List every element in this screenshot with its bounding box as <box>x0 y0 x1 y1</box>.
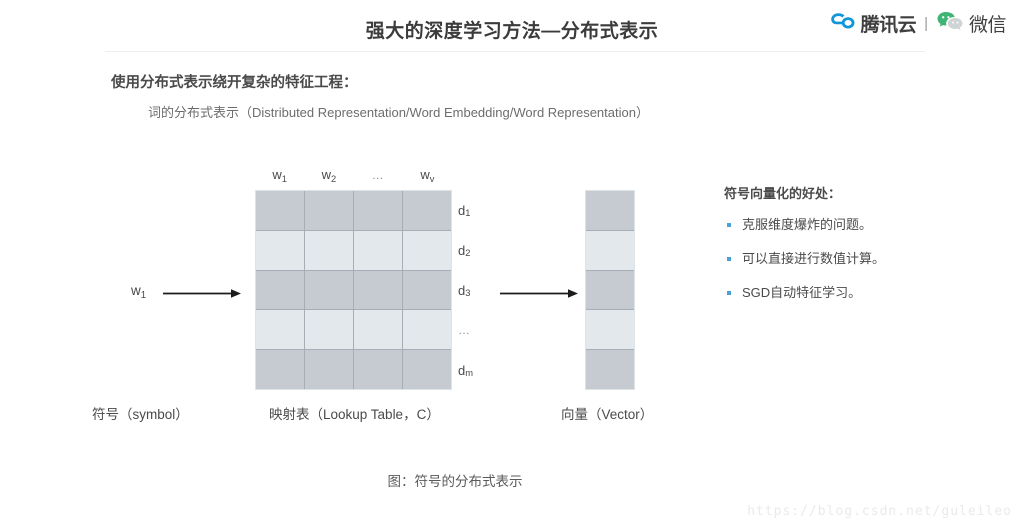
matrix-cell <box>403 191 451 230</box>
arrow-lookup-table-to-vector <box>500 286 578 297</box>
column-header-base: … <box>372 168 385 182</box>
matrix-cell <box>305 310 354 349</box>
input-symbol-label: w1 <box>131 283 146 298</box>
row-label-base: … <box>458 323 471 337</box>
row-label-subscript: 1 <box>465 208 470 218</box>
caption-lookup-table: 映射表（Lookup Table，C） <box>269 403 440 423</box>
matrix-cell <box>305 271 354 310</box>
matrix-cell <box>305 191 354 230</box>
vector-cell <box>586 191 634 231</box>
table-row <box>256 271 451 311</box>
list-item: 克服维度爆炸的问题。 <box>724 217 974 234</box>
matrix-cell <box>256 350 305 389</box>
matrix-cell <box>256 271 305 310</box>
matrix-column-header: w2 <box>304 167 353 182</box>
column-header-base: w <box>420 167 429 182</box>
benefit-text: SGD自动特征学习。 <box>742 285 861 302</box>
vector-cell <box>586 310 634 350</box>
matrix-row-labels: d1 d2 d3 … dm <box>458 190 498 390</box>
row-label-base: d <box>458 203 465 218</box>
matrix-row-label: d3 <box>458 270 498 310</box>
matrix-row-label: d1 <box>458 190 498 230</box>
bullet-square-icon <box>727 257 731 261</box>
matrix-cell <box>403 271 451 310</box>
matrix-cell <box>403 310 451 349</box>
matrix-row-label: dm <box>458 350 498 390</box>
lookup-table-matrix <box>255 190 452 390</box>
column-header-base: w <box>272 167 281 182</box>
benefits-panel: 符号向量化的好处： 克服维度爆炸的问题。 可以直接进行数值计算。 SGD自动特征… <box>724 183 974 319</box>
matrix-cell <box>305 231 354 270</box>
matrix-column-header-ellipsis: … <box>354 167 403 182</box>
bullet-square-icon <box>727 291 731 295</box>
row-label-subscript: m <box>465 368 473 378</box>
input-symbol-base: w <box>131 283 141 298</box>
bullet-square-icon <box>727 223 731 227</box>
vector-cell <box>586 271 634 311</box>
table-row <box>256 350 451 389</box>
vector-cell <box>586 350 634 389</box>
caption-symbol: 符号（symbol） <box>92 403 189 423</box>
row-label-subscript: 2 <box>465 248 470 258</box>
caption-vector: 向量（Vector） <box>561 403 653 423</box>
matrix-column-headers: w1 w2 … wv <box>255 167 452 182</box>
vector-cell <box>586 231 634 271</box>
table-row <box>256 191 451 231</box>
matrix-column-header: wv <box>403 167 452 182</box>
column-header-subscript: 2 <box>331 174 336 184</box>
column-header-subscript: 1 <box>282 174 287 184</box>
figure-caption: 图：符号的分布式表示 <box>0 470 910 490</box>
matrix-cell <box>256 191 305 230</box>
row-label-base: d <box>458 243 465 258</box>
column-header-subscript: v <box>430 174 435 184</box>
matrix-cell <box>354 310 403 349</box>
row-label-subscript: 3 <box>465 288 470 298</box>
input-symbol-subscript: 1 <box>141 290 146 301</box>
row-label-base: d <box>458 283 465 298</box>
matrix-cell <box>354 231 403 270</box>
output-vector-column <box>585 190 635 390</box>
matrix-cell <box>354 350 403 389</box>
matrix-row-label-ellipsis: … <box>458 310 498 350</box>
list-item: 可以直接进行数值计算。 <box>724 251 974 268</box>
matrix-cell <box>403 350 451 389</box>
matrix-cell <box>403 231 451 270</box>
matrix-column-header: w1 <box>255 167 304 182</box>
column-header-base: w <box>322 167 331 182</box>
matrix-cell <box>305 350 354 389</box>
row-label-base: d <box>458 363 465 378</box>
matrix-cell <box>256 231 305 270</box>
benefit-text: 克服维度爆炸的问题。 <box>742 217 872 234</box>
benefits-heading: 符号向量化的好处： <box>724 183 974 202</box>
list-item: SGD自动特征学习。 <box>724 285 974 302</box>
matrix-row-label: d2 <box>458 230 498 270</box>
benefit-text: 可以直接进行数值计算。 <box>742 251 885 268</box>
matrix-cell <box>256 310 305 349</box>
arrow-symbol-to-lookup-table <box>163 286 241 297</box>
table-row <box>256 231 451 271</box>
watermark: https://blog.csdn.net/guleileo <box>747 504 1012 519</box>
matrix-cell <box>354 191 403 230</box>
matrix-cell <box>354 271 403 310</box>
table-row <box>256 310 451 350</box>
